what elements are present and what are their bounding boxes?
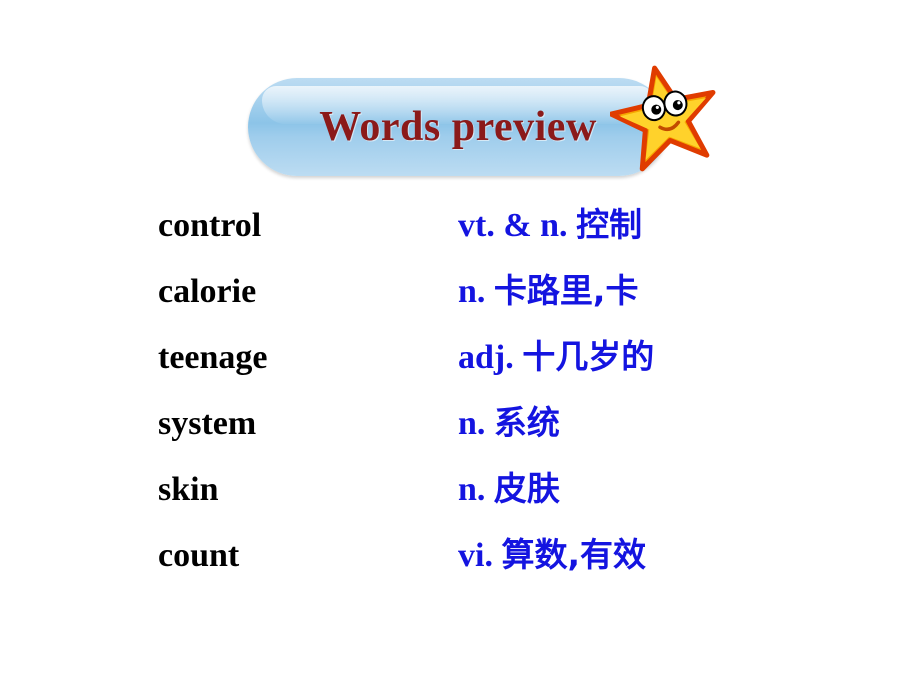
- list-item: control vt. & n. 控制: [158, 198, 798, 264]
- word-part-of-speech: vi.: [458, 537, 493, 574]
- word-definition: n. 卡路里,卡: [458, 264, 638, 312]
- list-item: count vi. 算数,有效: [158, 528, 798, 594]
- word-definition: vi. 算数,有效: [458, 528, 646, 576]
- word-english: control: [158, 207, 458, 245]
- word-english: skin: [158, 471, 458, 509]
- word-definition: adj. 十几岁的: [458, 330, 654, 378]
- word-meaning: 算数,有效: [501, 535, 646, 574]
- word-english: count: [158, 537, 458, 575]
- word-english: system: [158, 405, 458, 443]
- list-item: system n. 系统: [158, 396, 798, 462]
- title-banner: Words preview: [248, 78, 668, 176]
- words-list: control vt. & n. 控制 calorie n. 卡路里,卡 tee…: [158, 198, 798, 594]
- page-title: Words preview: [248, 78, 668, 176]
- word-part-of-speech: adj.: [458, 339, 514, 376]
- word-part-of-speech: n.: [458, 273, 485, 310]
- word-english: calorie: [158, 273, 458, 311]
- word-english: teenage: [158, 339, 458, 377]
- list-item: calorie n. 卡路里,卡: [158, 264, 798, 330]
- star-icon: [610, 62, 720, 172]
- word-part-of-speech: n.: [458, 405, 485, 442]
- word-definition: vt. & n. 控制: [458, 198, 642, 246]
- word-part-of-speech: vt. & n.: [458, 207, 568, 244]
- word-meaning: 控制: [576, 205, 642, 244]
- word-meaning: 卡路里,卡: [494, 271, 639, 310]
- list-item: skin n. 皮肤: [158, 462, 798, 528]
- word-meaning: 十几岁的: [522, 337, 654, 376]
- word-definition: n. 系统: [458, 396, 560, 444]
- word-part-of-speech: n.: [458, 471, 485, 508]
- word-meaning: 皮肤: [494, 469, 560, 508]
- word-definition: n. 皮肤: [458, 462, 560, 510]
- list-item: teenage adj. 十几岁的: [158, 330, 798, 396]
- word-meaning: 系统: [494, 403, 560, 442]
